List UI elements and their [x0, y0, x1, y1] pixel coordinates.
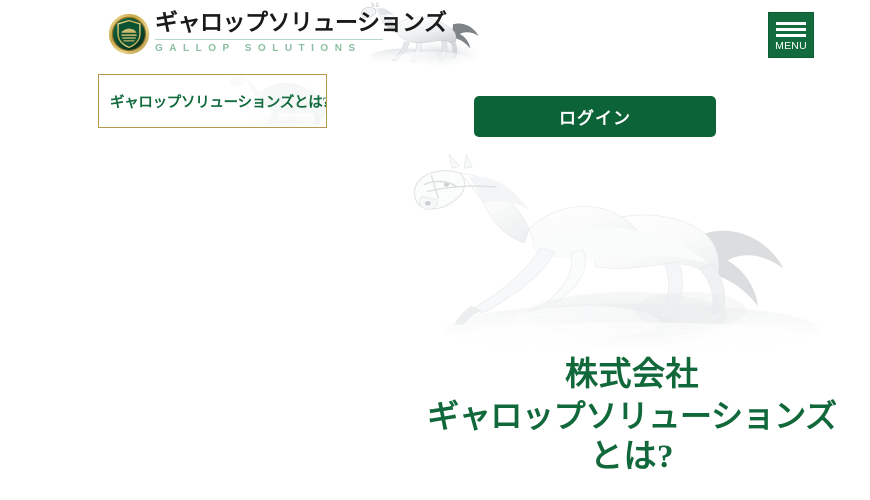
- menu-button-label: MENU: [775, 41, 807, 52]
- hero-heading-line-1: 株式会社: [394, 355, 870, 396]
- menu-button[interactable]: MENU: [768, 12, 814, 58]
- section-tab-about[interactable]: ギャロップソリューションズとは?: [98, 74, 327, 128]
- section-tab-label: ギャロップソリューションズとは?: [110, 75, 327, 127]
- login-button-label: ログイン: [559, 104, 631, 129]
- hamburger-menu-icon: [776, 22, 806, 37]
- site-header: ギャロップソリューションズ GALLOP SOLUTIONS MENU: [0, 0, 870, 70]
- hero-heading: 株式会社 ギャロップソリューションズ とは?: [394, 355, 870, 478]
- logo-subtitle: GALLOP SOLUTIONS: [155, 39, 383, 54]
- logo-text-wrap: ギャロップソリューションズ GALLOP SOLUTIONS: [155, 8, 390, 54]
- site-logo[interactable]: ギャロップソリューションズ GALLOP SOLUTIONS: [108, 8, 388, 60]
- hero-section: 株式会社 ギャロップソリューションズ とは?: [394, 152, 870, 500]
- gallop-shield-emblem-icon: [108, 13, 150, 55]
- login-button[interactable]: ログイン: [474, 96, 716, 137]
- page-root: ギャロップソリューションズ GALLOP SOLUTIONS MENU: [0, 0, 870, 500]
- galloping-horse-hero-image: [394, 152, 870, 362]
- hero-heading-line-3: とは?: [394, 437, 870, 478]
- hero-heading-line-2: ギャロップソリューションズ: [394, 396, 870, 437]
- logo-title: ギャロップソリューションズ: [155, 8, 390, 38]
